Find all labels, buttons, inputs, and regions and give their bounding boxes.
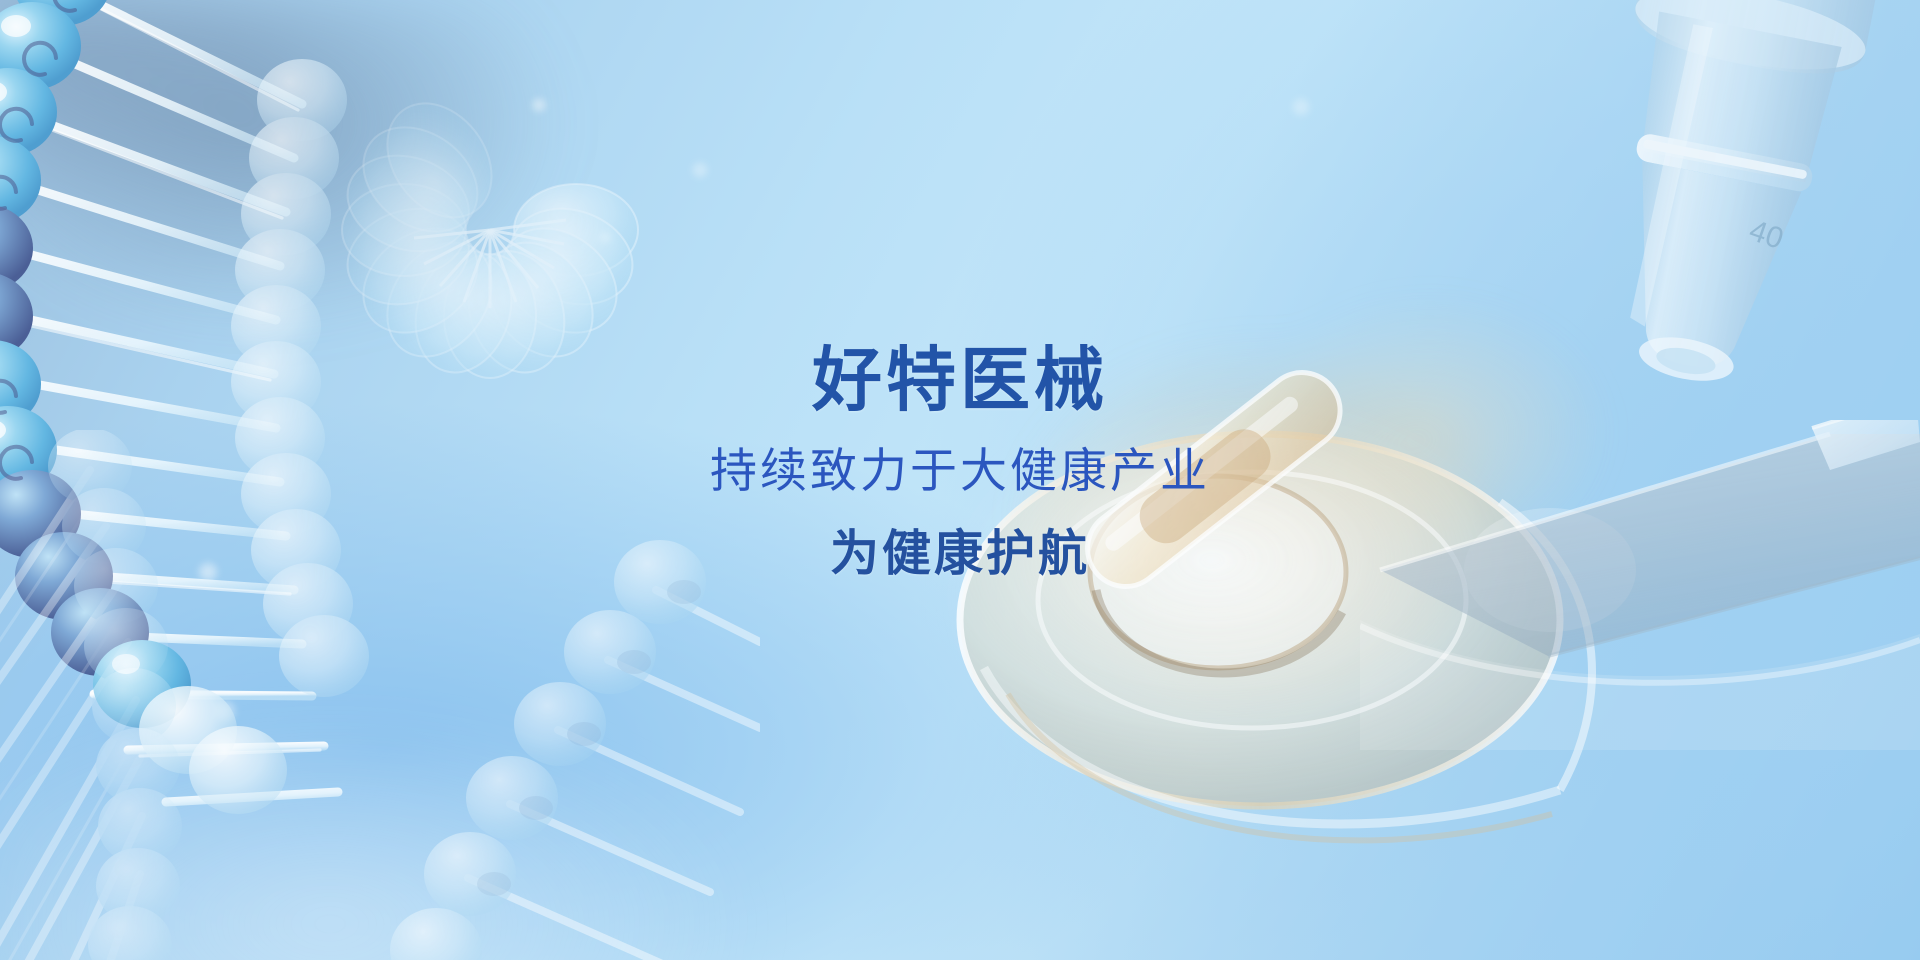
tagline: 为健康护航: [0, 530, 1920, 579]
headline-block: 好特医械 持续致力于大健康产业 为健康护航: [0, 345, 1920, 579]
page-title: 好特医械: [0, 345, 1920, 415]
hero-banner: 40 好特医械 持续致力于大健康产业 为健康护航: [0, 0, 1920, 960]
bokeh-spot: [1290, 96, 1312, 118]
bokeh-spot: [212, 698, 238, 724]
subtitle: 持续致力于大健康产业: [0, 447, 1920, 494]
